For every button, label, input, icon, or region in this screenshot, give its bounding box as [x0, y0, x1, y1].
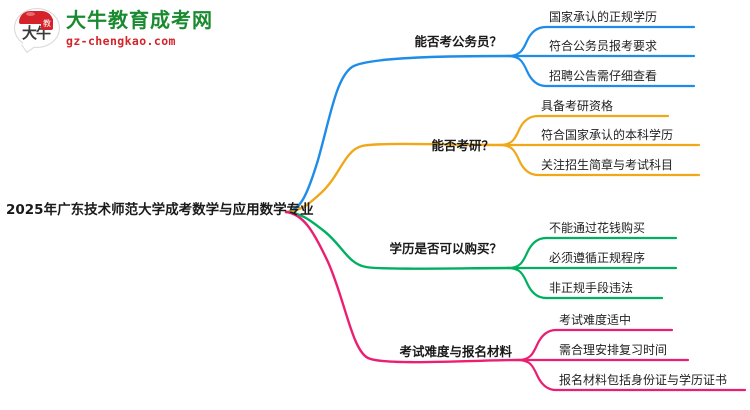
subbranch-curve-2-3	[500, 145, 538, 175]
mindmap-canvas: 大牛 教 大牛教育成考网 gz-chengkao.com	[0, 0, 750, 410]
root-node[interactable]: 2025年广东技术师范大学成考数学与应用数学专业	[6, 201, 314, 219]
logo-red-cap-highlight	[26, 12, 35, 16]
subbranch-curve-3-3	[508, 268, 546, 298]
leaf-node-2-1[interactable]: 具备考研资格	[541, 98, 613, 114]
leaf-node-1-1[interactable]: 国家承认的正规学历	[549, 9, 657, 25]
branch-label-3[interactable]: 学历是否可以购买？	[389, 240, 502, 257]
leaf-node-1-2[interactable]: 符合公务员报考要求	[549, 38, 657, 54]
branch-label-1[interactable]: 能否考公务员？	[414, 33, 502, 50]
leaf-node-1-3[interactable]: 招聘公告需仔细查看	[549, 68, 657, 84]
subbranch-curve-3-1	[508, 238, 546, 268]
branch-curve-4	[286, 212, 518, 362]
subbranch-curve-4-3	[518, 360, 556, 390]
leaf-node-4-1[interactable]: 考试难度适中	[559, 312, 631, 328]
branch-curve-1	[286, 56, 508, 212]
subbranch-curve-4-1	[518, 330, 556, 360]
subbranch-curve-1-3	[508, 56, 546, 86]
subbranch-curve-1-1	[508, 27, 546, 56]
logo-title: 大牛教育成考网	[66, 8, 213, 32]
branch-label-2[interactable]: 能否考研？	[431, 137, 494, 154]
logo-text-block: 大牛教育成考网 gz-chengkao.com	[66, 8, 213, 49]
branch-label-4[interactable]: 考试难度与报名材料	[399, 343, 512, 360]
subbranch-curve-2-1	[500, 116, 538, 145]
leaf-node-4-3[interactable]: 报名材料包括身份证与学历证书	[559, 372, 727, 388]
site-logo: 大牛 教 大牛教育成考网 gz-chengkao.com	[14, 6, 194, 58]
leaf-node-3-1[interactable]: 不能通过花钱购买	[549, 220, 645, 236]
logo-mark-icon: 大牛 教	[14, 8, 62, 54]
logo-badge: 教	[41, 18, 53, 30]
branch-curve-2	[286, 144, 500, 212]
leaf-node-4-2[interactable]: 需合理安排复习时间	[559, 342, 667, 358]
leaf-node-2-3[interactable]: 关注招生简章与考试科目	[541, 157, 673, 173]
logo-subtitle-url: gz-chengkao.com	[66, 33, 213, 49]
leaf-node-3-2[interactable]: 必须遵循正规程序	[549, 250, 645, 266]
leaf-node-2-2[interactable]: 符合国家承认的本科学历	[541, 127, 673, 143]
leaf-node-3-3[interactable]: 非正规手段违法	[549, 280, 633, 296]
